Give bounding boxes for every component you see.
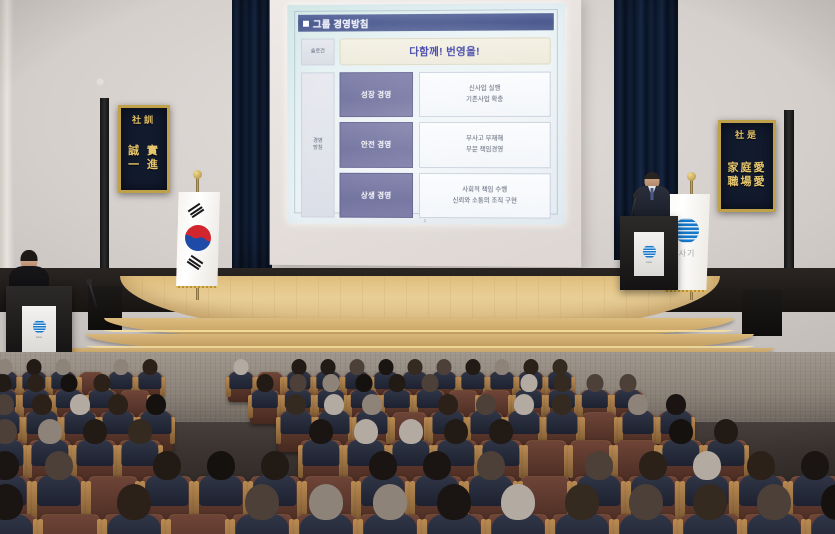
audience-member: [384, 374, 410, 408]
audience-member: [237, 484, 288, 534]
auditorium-scene: 그룹 경영방침 슬로건 다함께! 번영을! 경영 방침: [0, 0, 835, 534]
audience-member: [109, 484, 160, 534]
attendee-head: [114, 359, 129, 375]
attendee-head: [290, 374, 307, 392]
attendee-head: [408, 359, 423, 375]
attendee-head: [146, 394, 166, 415]
policy-label-line2: 방침: [313, 145, 322, 151]
policy-row: 상생 경영 사회적 책임 수행 신뢰와 소통의 조직 구현: [340, 172, 551, 218]
stage-side-block-right: [742, 290, 782, 336]
attendee-head: [286, 394, 306, 415]
audience-member: [365, 484, 416, 534]
attendee-head: [350, 359, 365, 375]
attendee-head: [399, 419, 423, 444]
attendee-head: [38, 419, 62, 444]
plaque-heading: 社訓: [132, 113, 156, 126]
attendee-head: [309, 419, 333, 444]
attendee-head: [362, 394, 382, 415]
wall-pillar-right: [784, 110, 794, 286]
policy-value-line: 사회적 책임 수행: [462, 186, 507, 194]
plaque-line-2: 職場愛: [728, 175, 767, 188]
wall-plaque-company-motto: 社訓 誠 實 一 進: [118, 105, 170, 193]
attendee-head: [373, 484, 407, 520]
attendee-head: [61, 374, 78, 392]
slide-page-number: 2: [287, 217, 565, 223]
attendee-head: [524, 359, 539, 375]
attendee-head: [324, 394, 344, 415]
presentation-slide: 그룹 경영방침 슬로건 다함께! 번영을! 경영 방침: [287, 3, 565, 225]
attendee-head: [45, 451, 73, 480]
attendee-head: [153, 451, 181, 480]
navy-stage-curtain-left: [232, 0, 272, 286]
attendee-head: [693, 484, 727, 520]
audience-chair: [40, 514, 100, 534]
taeguk-symbol: [181, 221, 215, 255]
attendee-head: [28, 374, 45, 392]
attendee-head: [245, 484, 279, 520]
attendee-head: [476, 394, 496, 415]
audience-member: [582, 374, 608, 408]
attendee-head: [354, 419, 378, 444]
audience-member: [301, 484, 352, 534]
attendee-head: [117, 484, 151, 520]
attendee-head: [587, 374, 604, 392]
slogan-box: 다함께! 번영을!: [340, 37, 551, 65]
slogan-label: 슬로건: [301, 38, 335, 65]
attendee-head: [321, 359, 336, 375]
attendee-head: [261, 451, 289, 480]
policy-key: 상생 경영: [340, 172, 413, 217]
wall-plaque-company-creed: 社是 家庭愛 職場愛: [718, 120, 776, 212]
attendee-head: [489, 419, 513, 444]
attendee-head: [501, 484, 535, 520]
attendee-head: [553, 359, 568, 375]
attendee-head: [323, 374, 340, 392]
attendee-head: [693, 451, 721, 480]
audience-member: [623, 394, 653, 434]
attendee-head: [94, 374, 111, 392]
lectern-logo-text: ●●●: [36, 335, 42, 339]
plaque-line-1: 家庭愛: [728, 161, 767, 174]
flagpole-finial-right: [687, 172, 696, 181]
projection-screen: 그룹 경영방침 슬로건 다함께! 번영을! 경영 방침: [270, 0, 582, 267]
attendee-head: [56, 359, 71, 375]
audience-member: [547, 394, 577, 434]
attendee-head: [639, 451, 667, 480]
audience-member: [685, 484, 736, 534]
attendee-head: [628, 394, 648, 415]
company-globe-logo-icon: [33, 320, 46, 333]
trigram-top-left: [188, 203, 205, 218]
attendee-head: [83, 419, 107, 444]
attendee-head: [292, 359, 307, 375]
speaker-tie: [651, 188, 654, 200]
audience-member: [139, 359, 162, 389]
policy-value-line: 무사고 무재해: [466, 135, 503, 143]
attendee-head: [585, 451, 613, 480]
attendee-head: [389, 374, 406, 392]
lectern-logo-text: ●●●: [646, 260, 652, 264]
flagpole-finial-left: [193, 170, 202, 179]
policy-key: 성장 경영: [340, 72, 413, 117]
attendee-head: [108, 394, 128, 415]
korean-national-flag: [176, 192, 220, 288]
attendee-head: [669, 419, 693, 444]
company-globe-logo-icon: [643, 245, 656, 258]
plaque-line-1: 誠 實: [128, 144, 160, 157]
wall-pillar-left: [100, 98, 109, 274]
attendee-head: [379, 359, 394, 375]
audience-member: [77, 419, 113, 467]
plaque-heading: 社是: [735, 128, 759, 141]
square-bullet-icon: [303, 20, 309, 26]
policy-value-line: 부문 책임경영: [466, 147, 503, 155]
attendee-head: [437, 484, 471, 520]
policy-row: 성장 경영 신사업 실행 기존사업 확충: [340, 72, 551, 118]
attendee-head: [70, 394, 90, 415]
attendee-head: [32, 394, 52, 415]
attendee-head: [495, 359, 510, 375]
audience-member: [252, 374, 278, 408]
policy-values: 사회적 책임 수행 신뢰와 소통의 조직 구현: [419, 173, 551, 219]
attendee-head: [714, 419, 738, 444]
attendee-head: [309, 484, 343, 520]
policy-values: 무사고 무재해 부문 책임경영: [419, 122, 551, 168]
attendee-head: [128, 419, 152, 444]
policy-rows: 성장 경영 신사업 실행 기존사업 확충 안전 경영 무사고 무재해 부문 책임…: [340, 72, 551, 219]
attendee-head: [143, 359, 158, 375]
audience-member: [462, 359, 485, 389]
audience-member: [491, 359, 514, 389]
audience-member: [303, 419, 339, 467]
attendee-head: [444, 419, 468, 444]
policy-label-line1: 경영: [313, 138, 322, 144]
attendee-head: [477, 451, 505, 480]
attendee-head: [27, 359, 42, 375]
policy-label: 경영 방침: [301, 72, 335, 217]
policy-values: 신사업 실행 기존사업 확충: [419, 72, 551, 118]
policy-value-line: 기존사업 확충: [466, 96, 503, 104]
main-lectern: ●●●: [620, 216, 678, 290]
audience-member: [621, 484, 672, 534]
plaque-body: 家庭愛 職場愛: [728, 141, 767, 209]
attendee-head: [757, 484, 791, 520]
trigram-bottom-left: [187, 255, 204, 270]
policy-value-line: 신사업 실행: [469, 85, 500, 93]
policy-section: 경영 방침 성장 경영 신사업 실행 기존사업 확충: [301, 72, 551, 219]
audience-member: [557, 484, 608, 534]
attendee-head: [438, 394, 458, 415]
slogan-row: 슬로건 다함께! 번영을!: [301, 37, 551, 65]
attendee-head: [565, 484, 599, 520]
audience-member: [813, 484, 835, 534]
attendee-head: [207, 451, 235, 480]
attendee-head: [629, 484, 663, 520]
attendee-head: [369, 451, 397, 480]
attendee-head: [666, 394, 686, 415]
lectern-front-panel: ●●●: [22, 306, 56, 352]
slogan-text: 다함께! 번영을!: [409, 44, 480, 59]
slide-title: 그룹 경영방침: [313, 16, 369, 30]
audience-member: [38, 451, 80, 506]
audience-member: [429, 484, 480, 534]
attendee-head: [554, 374, 571, 392]
secondary-lectern: ●●●: [6, 286, 72, 358]
audience-member: [749, 484, 800, 534]
attendee-head: [234, 359, 249, 375]
attendee-head: [620, 374, 637, 392]
audience-member: [230, 359, 253, 389]
plaque-line-2: 一 進: [128, 158, 160, 171]
attendee-head: [747, 451, 775, 480]
lectern-front-panel: ●●●: [634, 232, 664, 276]
attendee-head: [466, 359, 481, 375]
slide-body: 슬로건 다함께! 번영을! 경영 방침 성장 경영: [301, 37, 551, 208]
audience-chair: [168, 514, 228, 534]
policy-row: 안전 경영 무사고 무재해 부문 책임경영: [340, 122, 551, 168]
attendee-head: [552, 394, 572, 415]
plaque-body: 誠 實 一 進: [128, 126, 160, 190]
attendee-head: [801, 451, 829, 480]
policy-key: 안전 경영: [340, 122, 413, 167]
speaker-body: [634, 186, 670, 220]
attendee-head: [356, 374, 373, 392]
slide-title-bar: 그룹 경영방침: [298, 13, 554, 32]
audience-member: [0, 484, 32, 534]
attendee-head: [514, 394, 534, 415]
attendee-head: [437, 359, 452, 375]
attendee-head: [423, 451, 451, 480]
attendee-head: [422, 374, 439, 392]
policy-value-line: 신뢰와 소통의 조직 구현: [452, 197, 516, 205]
audience-member: [493, 484, 544, 534]
attendee-head: [0, 359, 13, 375]
attendee-head: [521, 374, 538, 392]
attendee-head: [257, 374, 274, 392]
